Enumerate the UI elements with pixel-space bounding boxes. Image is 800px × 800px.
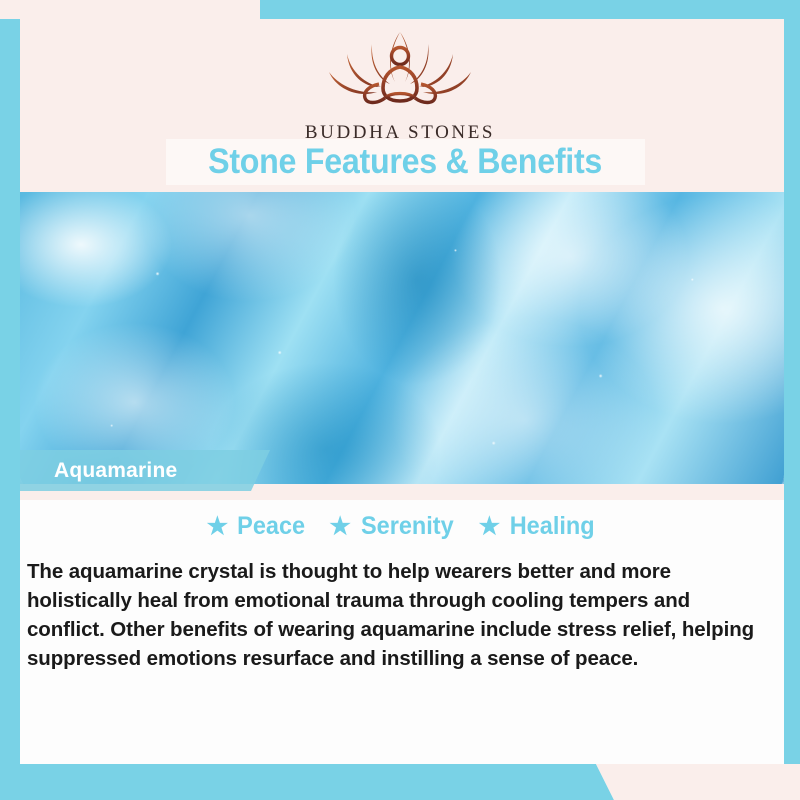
- star-icon: ★: [207, 515, 229, 539]
- star-icon: ★: [479, 515, 501, 539]
- stone-name-label: Aquamarine: [54, 459, 177, 483]
- crystal-sparkle-layer: [20, 192, 784, 484]
- infographic-page: BUDDHA STONES Stone Features & Benefits …: [0, 0, 800, 800]
- frame-top-cream-block: [0, 0, 260, 19]
- crystal-hero-image: [20, 192, 784, 484]
- feature-label: Serenity: [361, 512, 454, 541]
- feature-label: Healing: [510, 512, 595, 541]
- feature-keyword-row: ★ Peace ★ Serenity ★ Healing: [20, 512, 784, 541]
- feature-item-peace: ★ Peace: [207, 512, 308, 541]
- feature-label: Peace: [237, 512, 305, 541]
- page-title: Stone Features & Benefits: [209, 142, 603, 182]
- star-icon: ★: [329, 515, 351, 539]
- lotus-meditation-icon: [315, 24, 485, 116]
- description-text: The aquamarine crystal is thought to hel…: [27, 557, 755, 673]
- page-title-box: Stone Features & Benefits: [166, 139, 645, 185]
- stone-name-ribbon: Aquamarine: [20, 450, 270, 491]
- bottom-white-gap: [20, 683, 784, 764]
- feature-item-healing: ★ Healing: [479, 512, 598, 541]
- brand-logo: BUDDHA STONES: [0, 24, 800, 144]
- feature-item-serenity: ★ Serenity: [329, 512, 456, 541]
